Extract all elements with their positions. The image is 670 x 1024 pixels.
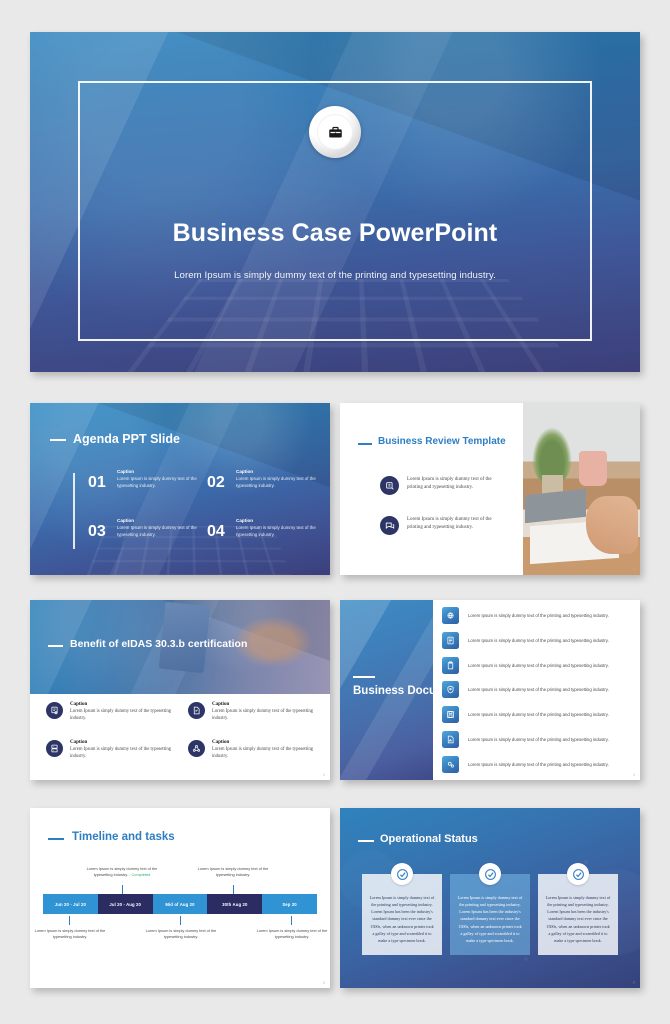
check-circle-icon: [567, 863, 589, 885]
benefit-item[interactable]: Caption Lorem Ipsum is simply dummy text…: [46, 740, 178, 770]
title-accent-dash: [48, 645, 63, 647]
agenda-item-caption: Caption: [117, 518, 201, 523]
page-number: 7: [633, 981, 635, 985]
slide-agenda[interactable]: Agenda PPT Slide 01 Caption Lorem Ipsum …: [30, 403, 330, 575]
eidas-title: Benefit of eIDAS 30.3.b certification: [70, 638, 247, 650]
benefit-item[interactable]: Caption Lorem Ipsum is simply dummy text…: [46, 702, 178, 732]
shield-lock-icon: [442, 681, 459, 698]
slide-eidas-benefit[interactable]: Benefit of eIDAS 30.3.b certification Ca…: [30, 600, 330, 780]
slide-operational-status[interactable]: Operational Status Lorem Ipsum is simply…: [340, 808, 640, 988]
review-title: Business Review Template: [378, 435, 506, 449]
agenda-item[interactable]: 01 Caption Lorem Ipsum is simply dummy t…: [88, 469, 201, 512]
title-accent-dash: [353, 676, 375, 678]
download-row[interactable]: Lorem Ipsum is simply dummy text of the …: [442, 706, 626, 723]
timeline-tick: [122, 885, 123, 894]
benefit-text: Lorem Ipsum is simply dummy text of the …: [212, 746, 317, 761]
slide-timeline-tasks[interactable]: Timeline and tasks Lorem Ipsum is simply…: [30, 808, 330, 988]
timeline-segment[interactable]: Jun 20 - Jul 20: [43, 894, 98, 914]
check-circle-icon: [391, 863, 413, 885]
download-row[interactable]: Lorem Ipsum is simply dummy text of the …: [442, 731, 626, 748]
review-bullet-row[interactable]: Lorem Ipsum is simply dummy text of the …: [380, 476, 499, 495]
report-icon: [442, 731, 459, 748]
review-bullet-row[interactable]: Lorem Ipsum is simply dummy text of the …: [380, 516, 499, 535]
globe-document-icon: [442, 607, 459, 624]
timeline-segment[interactable]: Sep 20: [262, 894, 317, 914]
timeline-tick: [291, 916, 292, 925]
download-row-text: Lorem Ipsum is simply dummy text of the …: [468, 761, 618, 768]
briefcase-icon: [317, 114, 353, 150]
download-row-text: Lorem Ipsum is simply dummy text of the …: [468, 711, 618, 718]
benefit-text: Lorem Ipsum is simply dummy text of the …: [70, 746, 175, 761]
hero-subtitle: Lorem Ipsum is simply dummy text of the …: [30, 270, 640, 281]
timeline-tick: [233, 885, 234, 894]
status-card-text: Lorem Ipsum is simply dummy text of the …: [545, 894, 611, 944]
status-card-text: Lorem Ipsum is simply dummy text of the …: [369, 894, 435, 944]
benefit-caption: Caption: [212, 740, 317, 745]
agenda-item-text: Lorem Ipsum is simply dummy text of the …: [117, 476, 201, 489]
document-edit-icon: [380, 476, 399, 495]
benefit-caption: Caption: [70, 702, 175, 707]
agenda-item-caption: Caption: [236, 518, 320, 523]
timeline-annotation-below: Lorem Ipsum is simply dummy text of the …: [144, 928, 218, 940]
timeline-annotation-text: Lorem Ipsum is simply dummy text of the …: [198, 866, 269, 877]
coffee-cup-decoration: [579, 451, 607, 485]
agenda-item-number: 02: [207, 469, 229, 491]
agenda-item-caption: Caption: [236, 469, 320, 474]
timeline-segment[interactable]: Mid of Aug 20: [153, 894, 208, 914]
page-number: 5: [323, 981, 325, 985]
review-bullet-text: Lorem Ipsum is simply dummy text of the …: [407, 476, 499, 492]
timeline-tick: [69, 916, 70, 925]
status-card-list: Lorem Ipsum is simply dummy text of the …: [362, 874, 618, 955]
server-icon: [46, 740, 63, 757]
agenda-item-text: Lorem Ipsum is simply dummy text of the …: [117, 525, 201, 538]
timeline-segment[interactable]: 30th Aug 20: [207, 894, 262, 914]
benefit-caption: Caption: [212, 702, 317, 707]
agenda-title: Agenda PPT Slide: [73, 432, 180, 446]
download-row[interactable]: Lorem Ipsum is simply dummy text of the …: [442, 607, 626, 624]
page-number: 2: [633, 568, 635, 572]
agenda-item-number: 03: [88, 518, 110, 540]
document-check-icon: [188, 702, 205, 719]
review-bullet-text: Lorem Ipsum is simply dummy text of the …: [407, 516, 499, 532]
eidas-benefit-grid: Caption Lorem Ipsum is simply dummy text…: [46, 702, 320, 770]
timeline-status-completed: - Completed: [129, 872, 150, 877]
slide-business-review[interactable]: Business Review Template Lorem Ipsum is …: [340, 403, 640, 575]
clipboard-icon: [442, 657, 459, 674]
download-row[interactable]: Lorem Ipsum is simply dummy text of the …: [442, 632, 626, 649]
status-title: Operational Status: [380, 833, 478, 845]
benefit-text: Lorem Ipsum is simply dummy text of the …: [212, 708, 317, 723]
benefit-caption: Caption: [70, 740, 175, 745]
download-row[interactable]: Lorem Ipsum is simply dummy text of the …: [442, 756, 626, 773]
hero-title: Business Case PowerPoint: [30, 219, 640, 248]
agenda-item-text: Lorem Ipsum is simply dummy text of the …: [236, 476, 320, 489]
timeline-annotation-below: Lorem Ipsum is simply dummy text of the …: [255, 928, 329, 940]
save-document-icon: [442, 706, 459, 723]
download-row-text: Lorem Ipsum is simply dummy text of the …: [468, 662, 618, 669]
title-accent-dash: [48, 838, 64, 840]
certificate-icon: [46, 702, 63, 719]
hand-writing-decoration: [586, 496, 637, 554]
list-document-icon: [442, 632, 459, 649]
timeline-tick: [180, 916, 181, 925]
network-share-icon: [188, 740, 205, 757]
timeline-annotation-above: Lorem Ipsum is simply dummy text of the …: [196, 866, 270, 878]
download-row-text: Lorem Ipsum is simply dummy text of the …: [468, 736, 618, 743]
title-accent-dash: [358, 840, 374, 842]
agenda-item-number: 04: [207, 518, 229, 540]
download-row[interactable]: Lorem Ipsum is simply dummy text of the …: [442, 681, 626, 698]
agenda-item-caption: Caption: [117, 469, 201, 474]
benefit-text: Lorem Ipsum is simply dummy text of the …: [70, 708, 175, 723]
timeline-title: Timeline and tasks: [72, 831, 175, 843]
page-number: 3: [323, 773, 325, 777]
timeline-annotation-below: Lorem Ipsum is simply dummy text of the …: [33, 928, 107, 940]
agenda-item[interactable]: 03 Caption Lorem Ipsum is simply dummy t…: [88, 518, 201, 561]
briefcase-badge: [309, 106, 361, 158]
status-card-text: Lorem Ipsum is simply dummy text of the …: [457, 894, 523, 944]
benefit-item[interactable]: Caption Lorem Ipsum is simply dummy text…: [188, 740, 320, 770]
agenda-item[interactable]: 04 Caption Lorem Ipsum is simply dummy t…: [207, 518, 320, 561]
agenda-item[interactable]: 02 Caption Lorem Ipsum is simply dummy t…: [207, 469, 320, 512]
download-row-text: Lorem Ipsum is simply dummy text of the …: [468, 686, 618, 693]
agenda-item-number: 01: [88, 469, 110, 491]
timeline-annotation-above: Lorem Ipsum is simply dummy text of the …: [85, 866, 159, 878]
download-row-text: Lorem Ipsum is simply dummy text of the …: [468, 637, 618, 644]
status-card[interactable]: Lorem Ipsum is simply dummy text of the …: [538, 874, 618, 955]
title-accent-dash: [50, 439, 66, 441]
page-number: 3: [633, 773, 635, 777]
slide-documents-download[interactable]: Business Documents Templates Download Lo…: [340, 600, 640, 780]
agenda-grid: 01 Caption Lorem Ipsum is simply dummy t…: [88, 469, 320, 561]
laptop-decoration: [525, 489, 586, 523]
download-row-text: Lorem Ipsum is simply dummy text of the …: [468, 612, 618, 619]
check-circle-icon: [479, 863, 501, 885]
gears-icon: [442, 756, 459, 773]
download-list: Lorem Ipsum is simply dummy text of the …: [442, 607, 626, 773]
status-card[interactable]: Lorem Ipsum is simply dummy text of the …: [362, 874, 442, 955]
status-card[interactable]: Lorem Ipsum is simply dummy text of the …: [450, 874, 530, 955]
chat-bubbles-icon: [380, 516, 399, 535]
agenda-vertical-rule: [73, 473, 75, 549]
review-photo-desk-workspace: [523, 403, 640, 575]
download-row[interactable]: Lorem Ipsum is simply dummy text of the …: [442, 657, 626, 674]
title-accent-dash: [358, 443, 372, 445]
slide-title-hero[interactable]: Business Case PowerPoint Lorem Ipsum is …: [30, 32, 640, 372]
timeline-bar: Jun 20 - Jul 20 Jul 20 - Aug 20 Mid of A…: [43, 894, 317, 914]
agenda-item-text: Lorem Ipsum is simply dummy text of the …: [236, 525, 320, 538]
slide-deck-preview-page: Business Case PowerPoint Lorem Ipsum is …: [0, 0, 670, 1024]
timeline-segment[interactable]: Jul 20 - Aug 20: [98, 894, 153, 914]
benefit-item[interactable]: Caption Lorem Ipsum is simply dummy text…: [188, 702, 320, 732]
